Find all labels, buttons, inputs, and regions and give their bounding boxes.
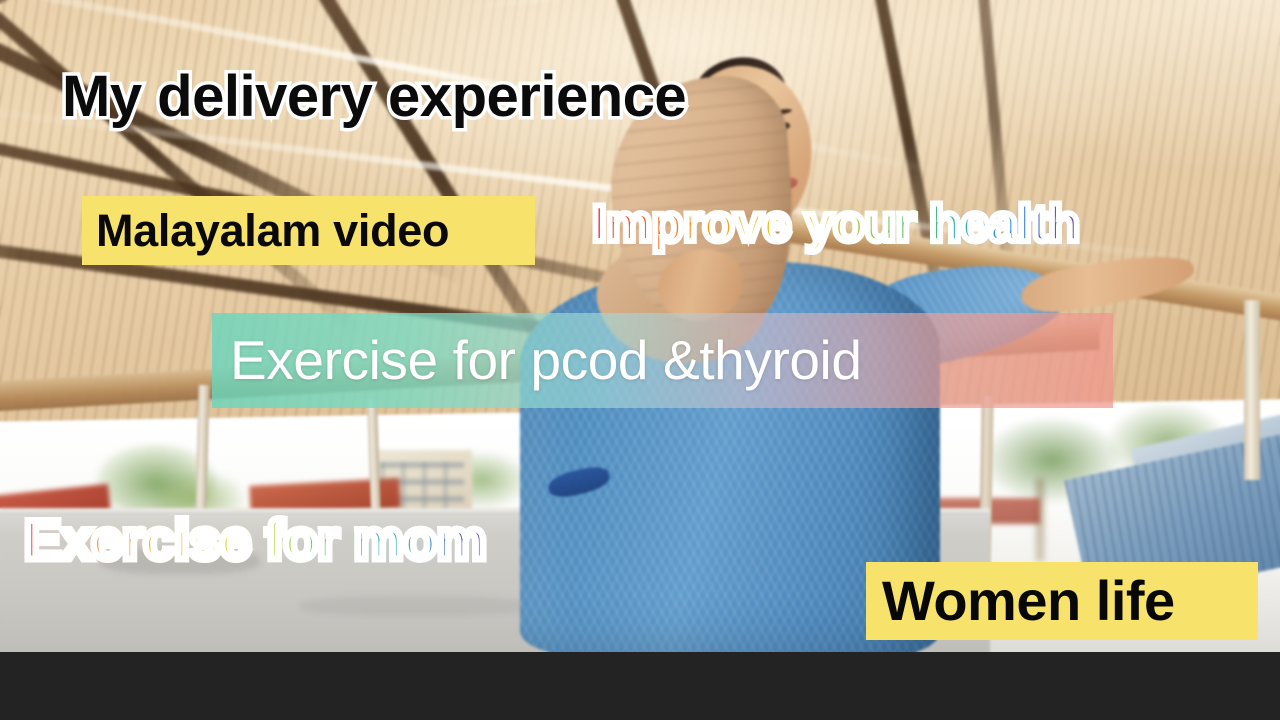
title-text-my-delivery-experience: My delivery experience — [62, 68, 686, 126]
malayalam-video-label-box: Malayalam video — [82, 196, 535, 265]
forearm — [1018, 247, 1198, 319]
video-thumbnail: My delivery experience Malayalam video I… — [0, 0, 1280, 720]
exercise-for-mom-text: Exercise for mom — [24, 512, 486, 568]
women-life-label: Women life — [866, 573, 1175, 629]
exercise-pcod-thyroid-band: Exercise for pcod &thyroid — [212, 313, 1113, 408]
exercise-pcod-thyroid-label: Exercise for pcod &thyroid — [212, 333, 862, 388]
improve-your-health-text: Improve your health — [592, 198, 1080, 250]
women-life-label-box: Women life — [866, 562, 1258, 640]
bottom-letterbox-bar — [0, 652, 1280, 720]
improve-your-health-label: Improve your health — [592, 195, 1080, 253]
malayalam-video-label: Malayalam video — [82, 208, 449, 253]
exercise-for-mom-label: Exercise for mom — [24, 508, 486, 571]
